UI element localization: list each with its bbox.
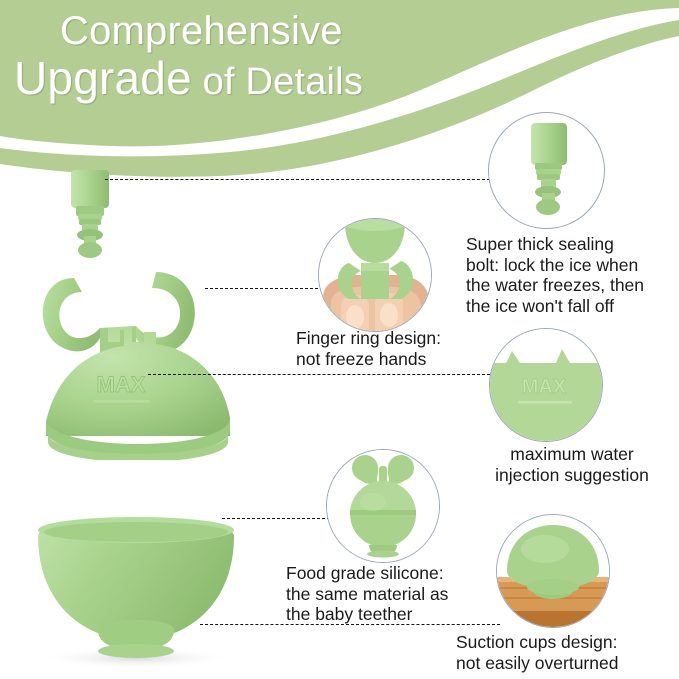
callout-circle-max: MAX xyxy=(489,328,603,442)
callout-text-finger-ring: Finger ring design: not freeze hands xyxy=(296,328,496,369)
callout-text-sealing-bolt: Super thick sealing bolt: lock the ice w… xyxy=(466,234,676,316)
callout-circle-suction xyxy=(496,514,610,628)
assembled-ice-ball-mold-art xyxy=(327,450,439,562)
finger-ring-handles-art xyxy=(43,272,195,356)
max-closeup-label: MAX xyxy=(522,376,567,398)
max-emboss-label: MAX xyxy=(97,372,146,397)
max-marking-closeup-art: MAX xyxy=(490,329,602,441)
callout-circle-sealing-bolt xyxy=(488,112,605,229)
callout-text-silicone: Food grade silicone: the same material a… xyxy=(286,563,496,625)
callout-text-suction: Suction cups design: not easily overturn… xyxy=(456,632,674,673)
sealing-bolt-closeup-art xyxy=(489,113,604,228)
connector-line-finger-ring xyxy=(205,288,323,289)
hand-holding-mold-photo-art xyxy=(319,219,431,331)
connector-line-sealing-bolt xyxy=(105,179,500,180)
callout-text-max: maximum water injection suggestion xyxy=(466,444,678,485)
sealing-bolt-art xyxy=(71,170,109,258)
connector-line-silicone xyxy=(222,518,330,519)
connector-line-max xyxy=(148,374,495,375)
callout-circle-silicone xyxy=(326,449,440,563)
callout-circle-finger-ring xyxy=(318,218,432,332)
product-lid-assembly-art: MAX xyxy=(16,160,266,460)
product-bowl-art xyxy=(16,490,256,670)
bowl-on-wooden-board-art xyxy=(497,515,609,627)
infographic-canvas: Comprehensive Upgrade of Details xyxy=(0,0,679,679)
